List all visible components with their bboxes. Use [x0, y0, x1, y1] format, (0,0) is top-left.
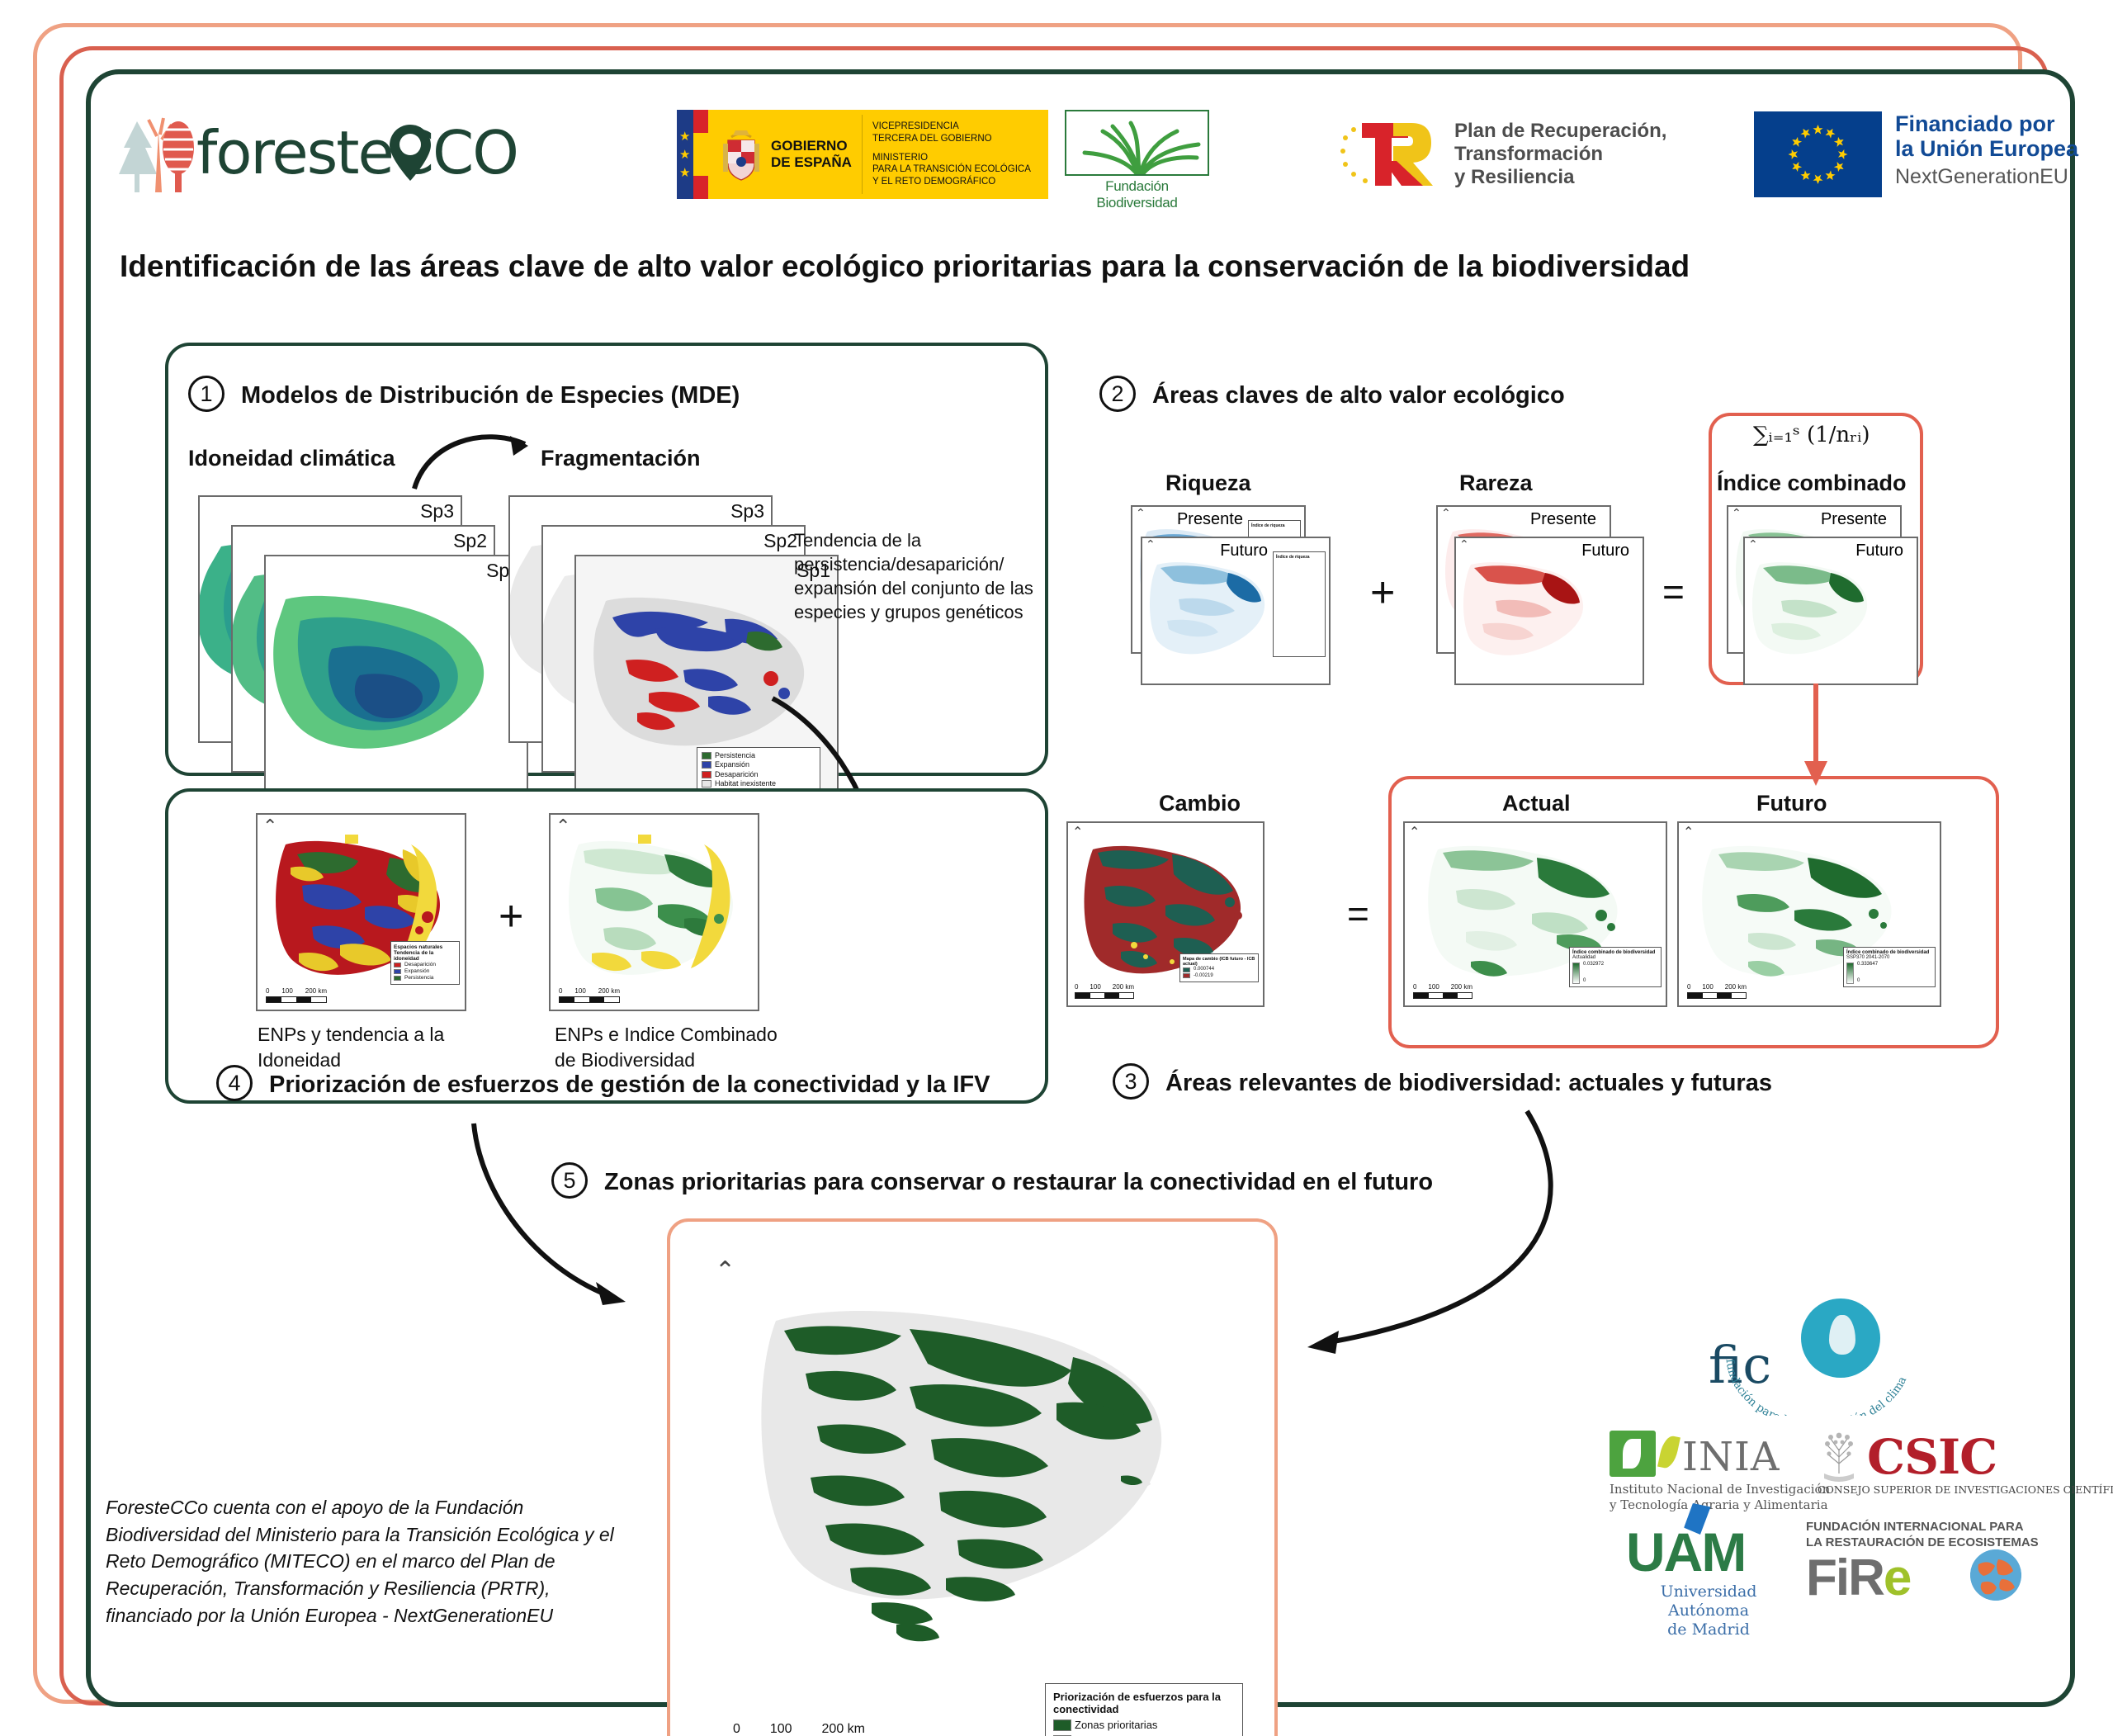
- step-1-badge: 1: [188, 376, 225, 412]
- actual-title: Actual: [1502, 791, 1571, 816]
- idoneidad-climatica-heading: Idoneidad climática: [188, 446, 395, 471]
- indice-map-futuro: [1748, 555, 1872, 665]
- step-1-label: Modelos de Distribución de Especies (MDE…: [241, 382, 740, 409]
- enps-idoneidad-map: ⌃ Espacios naturales Tendencia de la ido…: [256, 813, 466, 1011]
- uam-wordmark: UAM: [1626, 1525, 1791, 1579]
- fragmentation-legend: Persistencia Expansión Desaparición Habi…: [697, 747, 820, 792]
- riqueza-legend-futuro: Índice de riqueza: [1273, 551, 1326, 657]
- step-2-badge: 2: [1099, 376, 1136, 412]
- grass-icon: [1066, 111, 1208, 174]
- caption-enps-indice: ENPs e Indice Combinado de Biodiversidad: [555, 1022, 802, 1073]
- actual-scalebar: 0100200 km: [1413, 983, 1472, 999]
- acknowledgment-text: ForesteCCo cuenta con el apoyo de la Fun…: [106, 1494, 634, 1629]
- step-4-label: Priorización de esfuerzos de gestión de …: [269, 1071, 990, 1099]
- fic-arc-text: fundación para la investigación del clim…: [1692, 1284, 1940, 1416]
- priority-zones-map: [726, 1288, 1189, 1725]
- riqueza-card-futuro: ⌃ Futuro Índice de riqueza: [1141, 537, 1331, 685]
- indice-formula: ∑ᵢ₌₁ˢ (1/nᵣᵢ): [1753, 423, 1870, 447]
- rareza-title: Rareza: [1459, 471, 1533, 496]
- tendencia-text: Tendencia de la persistencia/desaparició…: [794, 528, 1042, 624]
- page-title: Identificación de las áreas clave de alt…: [120, 249, 2018, 284]
- futuro-map: ⌃ Índice combinado de biodiversidad SSP3…: [1677, 821, 1941, 1007]
- enps-indice-map-graphic: [559, 830, 749, 995]
- bigmap-legend: Priorización de esfuerzos para la conect…: [1045, 1683, 1243, 1736]
- eu-flag-icon: [1754, 111, 1882, 197]
- prtr-logo: Plan de Recuperación, Transformación y R…: [1337, 110, 1684, 199]
- indice-card-futuro: ⌃ Futuro: [1743, 537, 1918, 685]
- enps-indice-map: ⌃ 0100200 km: [549, 813, 759, 1011]
- svg-text:fundación para la investigació: fundación para la investigación del clim…: [1723, 1359, 1909, 1416]
- riqueza-title: Riqueza: [1165, 471, 1251, 496]
- uam-subtitle: Universidad Autónoma de Madrid: [1626, 1582, 1791, 1639]
- fundacion-biodiversidad-logo: Fundación Biodiversidad: [1065, 110, 1209, 199]
- fragmentacion-heading: Fragmentación: [541, 446, 701, 471]
- gobierno-espana-logo: ★★★ GOBIERNO DE ESPAÑA VIC: [677, 110, 1048, 199]
- prtr-mark-icon: [1337, 113, 1444, 196]
- rareza-futuro-label: Futuro: [1581, 542, 1629, 561]
- rareza-map-futuro: [1459, 555, 1588, 665]
- csic-tree-icon: [1818, 1431, 1860, 1483]
- enps-indice-scalebar: 0100200 km: [559, 987, 620, 1003]
- cambio-scalebar: 0100200 km: [1075, 983, 1134, 999]
- futuro-title: Futuro: [1756, 791, 1827, 816]
- species-suitability-map-sp1: [264, 578, 517, 784]
- plus-sign-panel2: +: [1370, 568, 1395, 617]
- actual-legend: Índice combinado de biodiversidad Actual…: [1569, 947, 1662, 987]
- step-4-badge: 4: [216, 1065, 253, 1101]
- flag-strip-icon: ★★★: [677, 110, 708, 199]
- equals-sign-panel3: =: [1347, 892, 1369, 936]
- ministerio-text: VICEPRESIDENCIA TERCERA DEL GOBIERNO MIN…: [872, 121, 1031, 189]
- fireo-logo: FUNDACIÓN INTERNACIONAL PARA LA RESTAURA…: [1806, 1520, 2025, 1604]
- prtr-text: Plan de Recuperación, Transformación y R…: [1454, 120, 1666, 190]
- futuro-legend: Índice combinado de biodiversidad SSP370…: [1843, 947, 1936, 987]
- infographic-root: foresteCCO ★★★: [0, 0, 2113, 1736]
- partner-logos: fic fundación para la investigación del …: [1610, 1284, 2022, 1672]
- actual-map: ⌃ Índice combinado de biodiversidad Actu…: [1403, 821, 1667, 1007]
- coat-of-arms-icon: [720, 125, 763, 183]
- riqueza-map-futuro: [1146, 555, 1269, 662]
- cambio-title: Cambio: [1159, 791, 1241, 816]
- fireo-subtitle: FUNDACIÓN INTERNACIONAL PARA LA RESTAURA…: [1806, 1520, 2025, 1551]
- inia-leaf-icon: [1623, 1439, 1641, 1469]
- inia-leaf2-icon: [1657, 1434, 1680, 1469]
- step-5-label: Zonas prioritarias para conservar o rest…: [604, 1169, 1433, 1196]
- step-3-label: Áreas relevantes de biodiversidad: actua…: [1165, 1070, 1772, 1097]
- csic-subtitle: CONSEJO SUPERIOR DE INVESTIGACIONES CIEN…: [1818, 1483, 2113, 1496]
- indice-combinado-title: Índice combinado: [1717, 471, 1907, 496]
- cambio-map: ⌃ Mapa de cambio (ICB futuro - ICB actua…: [1066, 821, 1264, 1007]
- equals-sign-panel2: =: [1662, 570, 1685, 614]
- forestecco-wordmark: foresteCCO: [196, 118, 518, 187]
- cambio-legend: Mapa de cambio (ICB futuro - ICB actual)…: [1179, 953, 1259, 982]
- globe-icon: [1970, 1549, 2021, 1601]
- uam-logo: UAM Universidad Autónoma de Madrid: [1626, 1525, 1791, 1639]
- inia-wordmark: INIA: [1682, 1434, 1780, 1480]
- eu-funding-logo: Financiado por la Unión Europea NextGene…: [1754, 111, 2101, 197]
- trees-icon: [116, 115, 194, 197]
- csic-wordmark: CSIC: [1867, 1429, 1997, 1485]
- fundacion-biodiversidad-caption: Fundación Biodiversidad: [1065, 178, 1209, 211]
- header: foresteCCO ★★★: [116, 103, 2047, 210]
- idoneidad-card-sp1: Sp1: [264, 555, 528, 802]
- location-pin-icon: [388, 123, 433, 182]
- futuro-scalebar: 0100200 km: [1687, 983, 1747, 999]
- step-2-label: Áreas claves de alto valor ecológico: [1152, 382, 1565, 409]
- step-5-badge: 5: [551, 1162, 588, 1199]
- step-3-badge: 3: [1113, 1063, 1149, 1100]
- inia-subtitle: Instituto Nacional de Investigación y Te…: [1610, 1482, 1830, 1513]
- rareza-card-futuro: ⌃ Futuro: [1454, 537, 1644, 685]
- bigmap-scalebar: 0100200 km: [733, 1722, 865, 1736]
- gobierno-text: GOBIERNO DE ESPAÑA: [771, 138, 852, 170]
- enps-idoneidad-scalebar: 0100200 km: [266, 987, 327, 1003]
- fic-logo: fic fundación para la investigación del …: [1692, 1284, 1940, 1416]
- caption-enps-idoneidad: ENPs y tendencia a la Idoneidad: [258, 1022, 464, 1073]
- bigmap-container: ⌃: [693, 1238, 1255, 1736]
- forestecco-logo: foresteCCO: [116, 111, 462, 198]
- enps-idoneidad-legend: Espacios naturales Tendencia de la idone…: [390, 941, 460, 985]
- eu-text: Financiado por la Unión Europea NextGene…: [1895, 111, 2078, 189]
- plus-sign-panel4: +: [499, 892, 523, 941]
